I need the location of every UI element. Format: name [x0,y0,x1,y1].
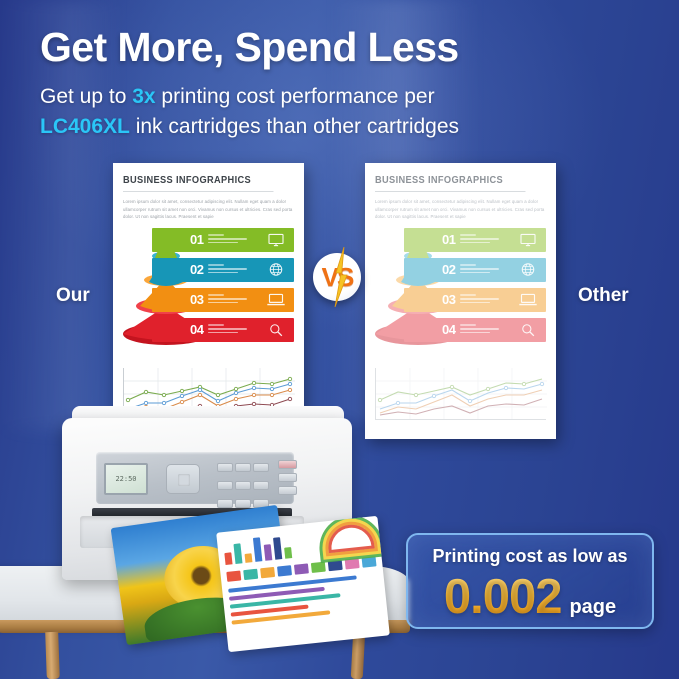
keypad-key[interactable] [235,499,251,508]
price-unit: page [569,596,616,619]
sub-line1-pre: Get up to [40,85,132,108]
document-body: Lorem ipsum dolor sit amet, consectetur … [123,198,294,221]
pyramid-chart: 01 02 03 04 [375,228,546,346]
pyramid-band-01: 01 [404,228,546,252]
lcd-time: 22:50 [115,475,136,483]
highlight-model: LC406XL [40,115,130,138]
printed-infographic-sheet [216,516,390,652]
document-title: BUSINESS INFOGRAPHICS [123,174,273,192]
keypad-key[interactable] [253,463,269,472]
mono-start-button[interactable] [278,473,297,482]
line-chart [375,368,546,420]
band-number: 03 [442,292,455,307]
label-other: Other [578,285,629,307]
band-text-lines [208,294,265,305]
highlight-3x: 3x [132,85,155,108]
function-keys[interactable] [278,460,297,499]
lightning-bolt-icon [333,247,349,307]
table-leg-left [45,632,60,679]
stop-button[interactable] [278,460,297,469]
subheadline: Get up to 3x printing cost performance p… [40,82,650,142]
band-number: 01 [190,232,203,247]
magnifier-icon [265,323,287,337]
monitor-icon [517,233,539,247]
vs-badge: VS [313,253,361,301]
pyramid-band-04: 04 [404,318,546,342]
document-body: Lorem ipsum dolor sit amet, consectetur … [375,198,546,221]
navigation-dpad[interactable] [166,464,200,494]
band-text-lines [460,324,517,335]
band-text-lines [208,264,265,275]
pyramid-band-03: 03 [152,288,294,312]
pyramid-band-02: 02 [404,258,546,282]
band-number: 02 [190,262,203,277]
document-other: BUSINESS INFOGRAPHICS Lorem ipsum dolor … [365,163,556,439]
color-start-button[interactable] [278,486,297,495]
price-caption: Printing cost as low as [408,546,652,567]
keypad-key[interactable] [253,481,269,490]
globe-icon [517,262,539,277]
sub-line2-post: ink cartridges than other cartridges [130,115,459,138]
keypad-key[interactable] [217,481,233,490]
globe-icon [265,262,287,277]
promo-banner: Get More, Spend Less Get up to 3x printi… [0,0,679,679]
laptop-icon [517,293,539,306]
printer-lcd-display: 22:50 [104,463,148,495]
document-title: BUSINESS INFOGRAPHICS [375,174,525,192]
line-chart-svg [376,368,547,419]
label-our: Our [56,285,90,307]
keypad-key[interactable] [235,463,251,472]
band-text-lines [460,264,517,275]
price-callout: Printing cost as low as 0.002 page [406,533,654,629]
laptop-icon [265,293,287,306]
pyramid-band-04: 04 [152,318,294,342]
band-number: 04 [190,322,203,337]
keypad-key[interactable] [217,463,233,472]
price-row: 0.002 page [408,569,652,625]
band-text-lines [208,234,265,245]
monitor-icon [265,233,287,247]
magnifier-icon [517,323,539,337]
band-number: 03 [190,292,203,307]
pyramid-band-03: 03 [404,288,546,312]
keypad-key[interactable] [235,481,251,490]
sub-line1-post: printing cost performance per [156,85,435,108]
band-text-lines [460,234,517,245]
printer-control-panel[interactable]: 22:50 [96,452,294,504]
price-value: 0.002 [444,569,562,625]
printed-bar-rows [228,573,381,624]
keypad-key[interactable] [217,499,233,508]
headline: Get More, Spend Less [40,24,640,71]
band-text-lines [208,324,265,335]
band-number: 02 [442,262,455,277]
pyramid-band-01: 01 [152,228,294,252]
band-number: 04 [442,322,455,337]
document-our: BUSINESS INFOGRAPHICS Lorem ipsum dolor … [113,163,304,439]
band-text-lines [460,294,517,305]
pyramid-chart: 01 02 03 04 [123,228,294,346]
band-number: 01 [442,232,455,247]
pyramid-band-02: 02 [152,258,294,282]
